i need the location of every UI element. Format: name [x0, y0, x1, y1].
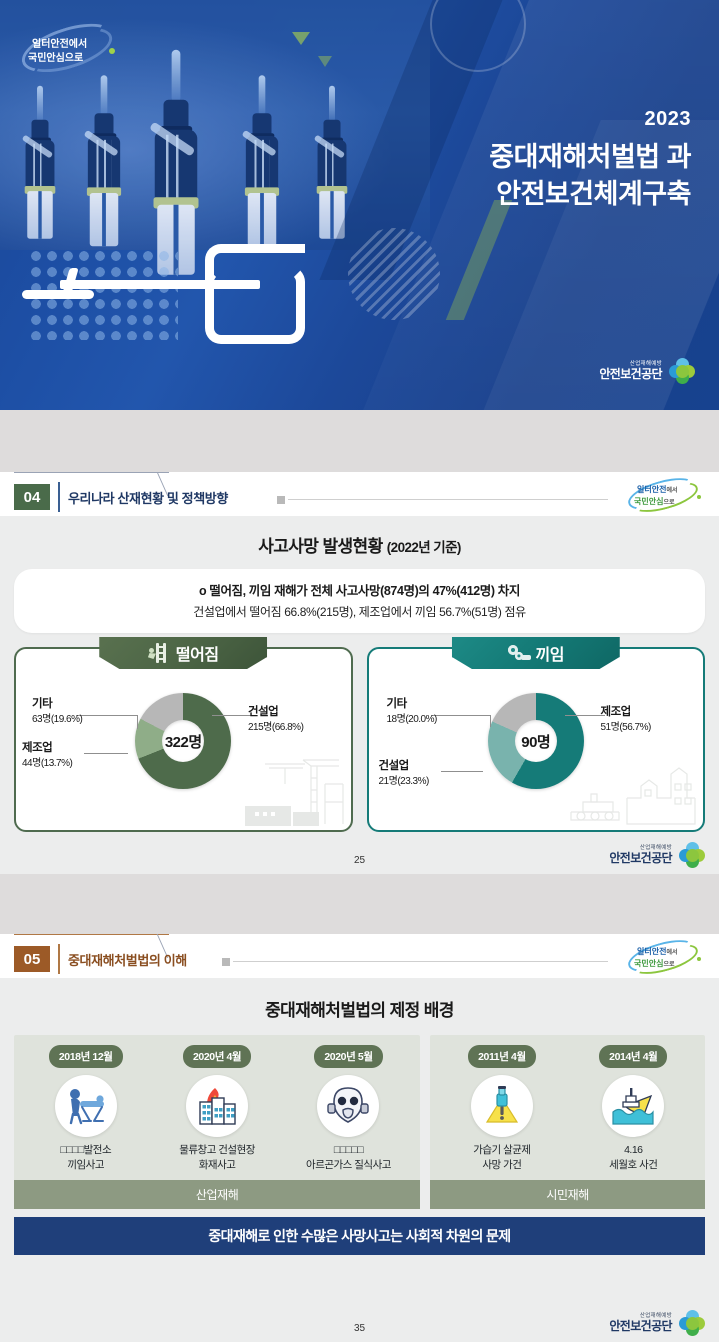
header-section-badge: 04: [14, 484, 50, 510]
cover-triangle-accent: [292, 32, 310, 45]
leader-line: [431, 715, 491, 716]
leader-line: [565, 715, 605, 716]
kosha-mark-icon: [679, 842, 705, 868]
callout-line-1: o 떨어짐, 끼임 재해가 전체 사고사망(874명)의 47%(412명) 차…: [30, 580, 689, 599]
header-rule: [233, 961, 608, 962]
donut-chart-fall: 322명: [135, 693, 231, 789]
slogan-dot-icon: [109, 48, 115, 54]
panel-ribbon-caught: 끼임: [452, 637, 620, 669]
donut-label-manufacturing-fall: 제조업 44명(13.7%): [22, 741, 72, 770]
header-section-badge: 05: [14, 946, 50, 972]
slogan-logo-line2-tail: 으로: [663, 500, 674, 506]
kosha-logo-main: 안전보건공단: [609, 1320, 672, 1333]
panel-ribbon-fall: 떨어짐: [99, 637, 267, 669]
law-item-caption-2: 화재사고: [169, 1158, 265, 1173]
law-column-footer-industrial: 산업재해: [14, 1180, 420, 1209]
slide-header: 05 중대재해처벌법의 이해 일터안전에서 국민안심으로: [0, 934, 719, 978]
kosha-logo-main: 안전보건공단: [609, 852, 672, 865]
cover-title-block: 2023 중대재해처벌법 과 안전보건체계구축: [489, 108, 691, 214]
header-divider: [58, 944, 60, 974]
header-rule: [288, 499, 608, 500]
cover-title-line-2: 안전보건체계구축: [489, 176, 691, 213]
leader-line: [441, 771, 483, 772]
kosha-logo: 산업재해예방 안전보건공단: [609, 1310, 705, 1336]
slogan-logo-line1-tail: 에서: [666, 488, 677, 494]
slide-header: 04 우리나라 산재현황 및 정책방향 일터안전에서 국민안심으로: [0, 472, 719, 516]
leader-line: [490, 715, 491, 727]
leader-line: [84, 753, 128, 754]
leader-line: [137, 715, 138, 729]
header-progress-square: [222, 958, 230, 966]
leader-line: [76, 715, 138, 716]
law-item-caption-1: □□□□□: [300, 1143, 396, 1158]
construction-crane-art: [225, 754, 345, 826]
slogan-line-1: 일터안전에서: [32, 35, 87, 50]
law-column-industrial: 2018년 12월 □□□□발전소: [14, 1035, 420, 1209]
donut-label-construction-caught: 건설업 21명(23.3%): [379, 759, 429, 788]
header-title: 우리나라 산재현황 및 정책방향: [68, 488, 228, 507]
law-item-caption-1: 가습기 살균제: [454, 1143, 550, 1158]
donut-center-label-fall: 322명: [135, 693, 231, 789]
gas-mask-icon: [317, 1075, 379, 1137]
panel-title-caught: 끼임: [536, 641, 564, 665]
donut-label-manufacturing-caught: 제조업 51명(56.7%): [601, 705, 651, 734]
kosha-logo: 산업재해예방 안전보건공단: [599, 358, 695, 384]
panel-title-fall: 떨어짐: [176, 641, 219, 665]
slide-body: 사고사망 발생현황 (2022년 기준) o 떨어짐, 끼임 재해가 전체 사고…: [0, 516, 719, 874]
law-item-caption-1: □□□□발전소: [38, 1143, 134, 1158]
law-column-civic: 2011년 4월 가습기 살균제 사: [430, 1035, 705, 1209]
law-item: 2020년 4월: [169, 1045, 265, 1172]
header-progress-square: [277, 496, 285, 504]
cover-green-accent: [446, 200, 512, 320]
slogan-line-2: 국민안심으로: [28, 49, 83, 64]
donut-panel-fall: 떨어짐 322명 기타 63명(19.6%) 제조업: [14, 647, 353, 832]
page-title-main: 사고사망 발생현황: [258, 537, 382, 556]
guard-silhouette: [310, 111, 354, 239]
gears-caught-icon: [508, 643, 530, 663]
slogan-logo-line2: 국민안심: [634, 959, 663, 968]
header-title: 중대재해처벌법의 이해: [68, 950, 187, 969]
page-title-sub: (2022년 기준): [387, 540, 461, 555]
slogan-logo-line1-tail: 에서: [666, 950, 677, 956]
law-item-caption-1: 4.16: [585, 1143, 681, 1158]
law-item-date: 2020년 5월: [314, 1045, 382, 1068]
cover-slide: 일터안전에서 국민안심으로 2023 중대재해처벌법 과 안전보건체계구축 산업…: [0, 0, 719, 410]
law-item-caption-2: 세월호 사건: [585, 1158, 681, 1173]
page-title: 사고사망 발생현황 (2022년 기준): [0, 516, 719, 557]
law-item-caption-2: 끼임사고: [38, 1158, 134, 1173]
donut-chart-caught: 90명: [488, 693, 584, 789]
law-column-footer-civic: 시민재해: [430, 1180, 705, 1209]
stretcher-icon: [55, 1075, 117, 1137]
law-item-caption-2: 아르곤가스 질식사고: [300, 1158, 396, 1173]
cover-numeral-six-graphic: [0, 238, 420, 348]
sinking-ship-icon: [602, 1075, 664, 1137]
law-item-caption-1: 물류창고 건설현장: [169, 1143, 265, 1158]
factory-line-art: [567, 754, 697, 826]
cover-title-line-1: 중대재해처벌법 과: [489, 139, 691, 176]
cover-triangle-accent: [318, 56, 332, 67]
donut-label-construction-fall: 건설업 215명(66.8%): [248, 705, 303, 734]
guard-silhouette: [79, 104, 128, 247]
guard-silhouette: [18, 111, 62, 239]
law-item-date: 2020년 4월: [183, 1045, 251, 1068]
law-item-date: 2018년 12월: [49, 1045, 123, 1068]
summary-callout: o 떨어짐, 끼임 재해가 전체 사고사망(874명)의 47%(412명) 차…: [14, 569, 705, 633]
slide-body: 중대재해처벌법의 제정 배경 2018년 12월: [0, 978, 719, 1342]
slogan-badge: 일터안전에서 국민안심으로: [18, 26, 118, 70]
callout-line-2: 건설업에서 떨어짐 66.8%(215명), 제조업에서 끼임 56.7%(51…: [30, 603, 689, 620]
slogan-logo-line1: 일터안전: [637, 485, 666, 494]
factory-fire-icon: [186, 1075, 248, 1137]
law-slide: 05 중대재해처벌법의 이해 일터안전에서 국민안심으로 중대재해처벌법의 제정…: [0, 934, 719, 1342]
header-divider: [58, 482, 60, 512]
law-item: 2020년 5월 □□□□□ 아르곤: [300, 1045, 396, 1172]
slogan-logo-line2: 국민안심: [634, 497, 663, 506]
slogan-logo-line2-tail: 으로: [663, 962, 674, 968]
kosha-mark-icon: [679, 1310, 705, 1336]
slogan-logo-dot-icon: [697, 495, 701, 499]
kosha-logo-main: 안전보건공단: [599, 368, 662, 381]
law-item: 2011년 4월 가습기 살균제 사: [454, 1045, 550, 1172]
kosha-mark-icon: [669, 358, 695, 384]
donut-center-label-caught: 90명: [488, 693, 584, 789]
leader-line: [212, 715, 252, 716]
law-bottom-banner: 중대재해로 인한 수많은 사망사고는 사회적 차원의 문제: [14, 1217, 705, 1255]
kosha-logo: 산업재해예방 안전보건공단: [609, 842, 705, 868]
slogan-logo-line1: 일터안전: [637, 947, 666, 956]
donut-label-etc-caught: 기타 18명(20.0%): [387, 697, 437, 726]
cover-year: 2023: [489, 108, 691, 131]
law-item-date: 2011년 4월: [468, 1045, 536, 1068]
donut-label-etc-fall: 기타 63명(19.6%): [32, 697, 82, 726]
warning-bottle-icon: [471, 1075, 533, 1137]
cover-circle-outline: [430, 0, 526, 72]
slogan-logo: 일터안전에서 국민안심으로: [625, 940, 703, 972]
stats-slide: 04 우리나라 산재현황 및 정책방향 일터안전에서 국민안심으로 사고사망 발…: [0, 472, 719, 874]
law-item: 2018년 12월 □□□□발전소: [38, 1045, 134, 1172]
ladder-fall-icon: [148, 643, 170, 663]
donut-panel-caught: 끼임 90명 기타 18명(20.0%) 건설업 21명(23.3%): [367, 647, 706, 832]
law-item-caption-2: 사망 가건: [454, 1158, 550, 1173]
law-item: 2014년 4월 4.16 세월호 사건: [585, 1045, 681, 1172]
slogan-logo: 일터안전에서 국민안심으로: [625, 478, 703, 510]
guard-silhouette: [237, 104, 286, 247]
law-columns: 2018년 12월 □□□□발전소: [14, 1035, 705, 1209]
law-item-date: 2014년 4월: [599, 1045, 667, 1068]
page-title: 중대재해처벌법의 제정 배경: [0, 978, 719, 1021]
slogan-logo-dot-icon: [697, 957, 701, 961]
donut-panels: 떨어짐 322명 기타 63명(19.6%) 제조업: [0, 633, 719, 832]
